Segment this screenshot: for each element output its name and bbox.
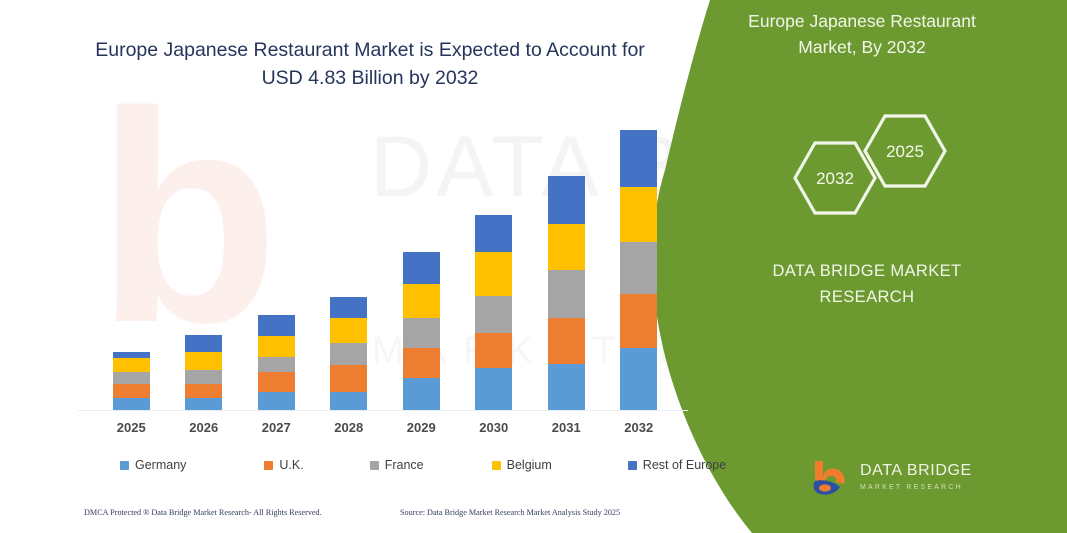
legend-item-u-k-[interactable]: U.K. [264, 458, 303, 472]
logo-tagline: MARKET RESEARCH [860, 479, 972, 496]
footer-source: Source: Data Bridge Market Research Mark… [400, 508, 620, 517]
panel-brand-name: DATA BRIDGE MARKET RESEARCH [707, 258, 1027, 310]
bar-segment-u-k--2031 [548, 318, 585, 364]
bar-segment-germany-2025 [113, 398, 150, 410]
panel-heading-line-1: Europe Japanese Restaurant [697, 8, 1027, 34]
legend-label: France [385, 458, 424, 472]
bar-segment-rest-of-europe-2032 [620, 130, 657, 187]
bar-2025 [113, 352, 150, 410]
panel-heading: Europe Japanese Restaurant Market, By 20… [697, 8, 1027, 60]
hexagon-2025-label: 2025 [886, 142, 924, 161]
bar-segment-germany-2031 [548, 364, 585, 410]
x-axis-label-2031: 2031 [536, 420, 596, 435]
legend-label: Germany [135, 458, 186, 472]
chart-x-axis: 20252026202720282029203020312032 [95, 420, 675, 444]
x-axis-label-2026: 2026 [174, 420, 234, 435]
legend-label: Rest of Europe [643, 458, 726, 472]
legend-item-belgium[interactable]: Belgium [492, 458, 552, 472]
infographic-canvas: b DATA BRIDGE MARKET RESEARCH Europe Jap… [0, 0, 1067, 533]
bar-segment-belgium-2025 [113, 358, 150, 372]
x-axis-label-2029: 2029 [391, 420, 451, 435]
bar-2028 [330, 297, 367, 410]
bar-segment-u-k--2028 [330, 365, 367, 392]
bar-segment-france-2030 [475, 296, 512, 333]
bar-segment-germany-2032 [620, 348, 657, 410]
bar-segment-belgium-2027 [258, 336, 295, 357]
panel-brand-line-1: DATA BRIDGE MARKET [707, 258, 1027, 284]
bar-segment-u-k--2025 [113, 384, 150, 398]
legend-swatch-icon [264, 461, 273, 470]
bar-segment-france-2025 [113, 372, 150, 384]
bar-segment-germany-2027 [258, 392, 295, 410]
bar-segment-rest-of-europe-2026 [185, 335, 222, 352]
data-bridge-logo: DATA BRIDGE MARKET RESEARCH [809, 459, 972, 499]
bar-segment-germany-2026 [185, 398, 222, 410]
bar-segment-belgium-2029 [403, 284, 440, 318]
data-bridge-logo-icon [809, 459, 851, 499]
legend-item-rest-of-europe[interactable]: Rest of Europe [628, 458, 726, 472]
legend-swatch-icon [628, 461, 637, 470]
bar-segment-germany-2030 [475, 368, 512, 410]
bar-segment-rest-of-europe-2028 [330, 297, 367, 318]
bar-segment-u-k--2026 [185, 384, 222, 398]
bar-segment-germany-2028 [330, 392, 367, 410]
bar-segment-u-k--2029 [403, 348, 440, 378]
chart-legend: GermanyU.K.FranceBelgiumRest of Europe [120, 454, 660, 476]
chart-baseline [78, 410, 688, 411]
x-axis-label-2032: 2032 [609, 420, 669, 435]
bar-segment-france-2031 [548, 270, 585, 318]
legend-label: U.K. [279, 458, 303, 472]
bar-segment-france-2029 [403, 318, 440, 348]
legend-swatch-icon [120, 461, 129, 470]
stacked-bar-chart: 20252026202720282029203020312032 [0, 0, 700, 470]
bar-2029 [403, 252, 440, 410]
bar-segment-rest-of-europe-2030 [475, 215, 512, 252]
x-axis-label-2025: 2025 [101, 420, 161, 435]
legend-swatch-icon [492, 461, 501, 470]
bar-segment-france-2027 [258, 357, 295, 372]
bar-segment-germany-2029 [403, 378, 440, 410]
panel-brand-line-2: RESEARCH [707, 284, 1027, 310]
bar-segment-belgium-2032 [620, 187, 657, 242]
x-axis-label-2027: 2027 [246, 420, 306, 435]
bar-segment-france-2028 [330, 343, 367, 365]
bar-segment-rest-of-europe-2031 [548, 176, 585, 224]
bar-2030 [475, 215, 512, 410]
bar-segment-france-2032 [620, 242, 657, 294]
bar-segment-u-k--2030 [475, 333, 512, 368]
chart-plot-area [95, 120, 675, 410]
brand-panel: Europe Japanese Restaurant Market, By 20… [647, 0, 1067, 533]
legend-label: Belgium [507, 458, 552, 472]
x-axis-label-2030: 2030 [464, 420, 524, 435]
bar-2027 [258, 315, 295, 410]
x-axis-label-2028: 2028 [319, 420, 379, 435]
bar-segment-belgium-2028 [330, 318, 367, 343]
bar-segment-belgium-2030 [475, 252, 512, 296]
legend-swatch-icon [370, 461, 379, 470]
footer-copyright: DMCA Protected ® Data Bridge Market Rese… [84, 508, 322, 517]
bar-segment-belgium-2026 [185, 352, 222, 370]
panel-heading-line-2: Market, By 2032 [697, 34, 1027, 60]
footer: DMCA Protected ® Data Bridge Market Rese… [0, 508, 700, 528]
bar-segment-france-2026 [185, 370, 222, 384]
bar-segment-rest-of-europe-2029 [403, 252, 440, 284]
data-bridge-logo-text: DATA BRIDGE MARKET RESEARCH [860, 462, 972, 496]
legend-item-france[interactable]: France [370, 458, 424, 472]
bar-2026 [185, 335, 222, 410]
bar-2031 [548, 176, 585, 410]
bar-segment-belgium-2031 [548, 224, 585, 270]
hexagon-2032-label: 2032 [816, 169, 854, 188]
year-hexagons: 2025 2032 [767, 98, 997, 228]
legend-item-germany[interactable]: Germany [120, 458, 186, 472]
bar-2032 [620, 130, 657, 410]
bar-segment-u-k--2032 [620, 294, 657, 348]
bar-segment-rest-of-europe-2027 [258, 315, 295, 336]
bar-segment-u-k--2027 [258, 372, 295, 392]
logo-name: DATA BRIDGE [860, 462, 972, 479]
